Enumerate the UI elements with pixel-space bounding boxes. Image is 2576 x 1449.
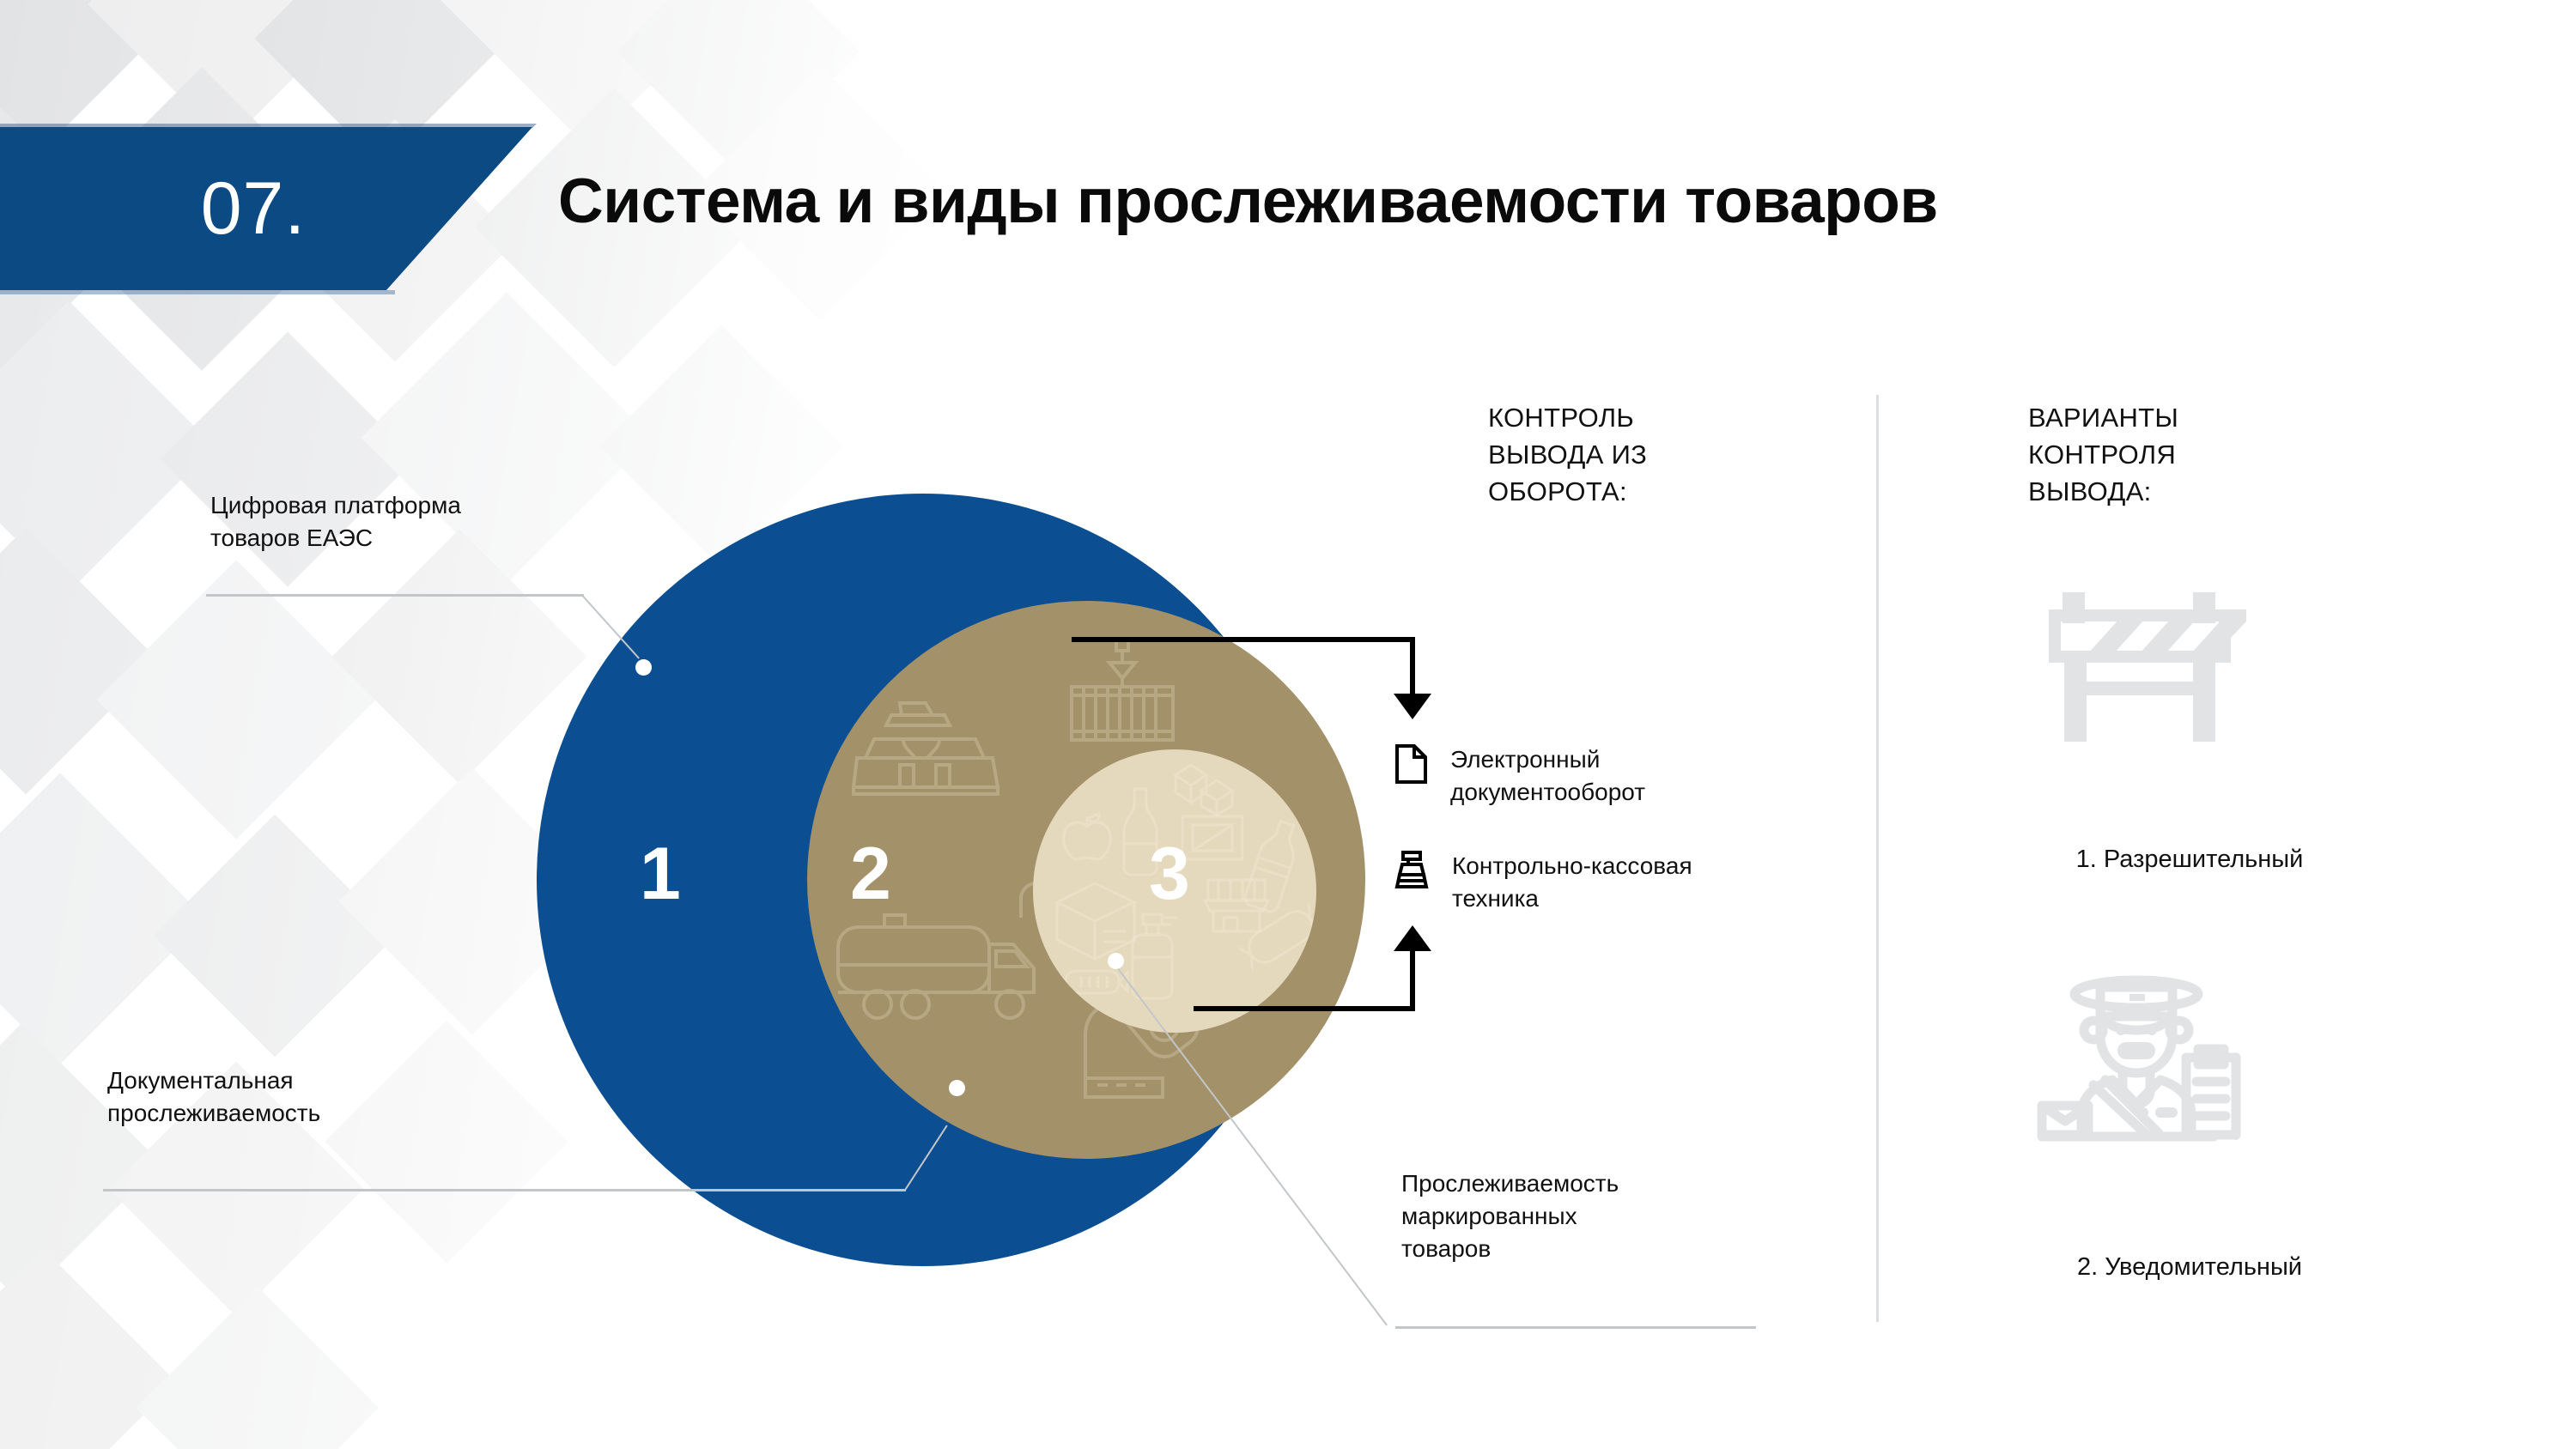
callout-platform-line1: Цифровая платформа	[210, 489, 605, 522]
leader-line-bottom-left	[103, 1189, 906, 1191]
bracket-bottom-vertical	[1410, 951, 1415, 1011]
variant-option-1-label: 1. Разрешительный	[1966, 846, 2413, 874]
column-divider	[1876, 395, 1879, 1322]
document-icon	[1394, 743, 1428, 789]
control-item-edo-label: Электронный документооборот	[1450, 743, 1811, 809]
callout-marked-line1: Прослеживаемость	[1401, 1167, 1762, 1200]
callout-platform-line2: товаров ЕАЭС	[210, 522, 605, 555]
control-item-edo-line2: документооборот	[1450, 779, 1645, 805]
leader-line-top-left	[206, 594, 584, 597]
callout-marked-label: Прослеживаемость маркированных товаров	[1401, 1167, 1762, 1264]
slide-number-text: 07.	[201, 167, 307, 252]
control-item-edo[interactable]: Электронный документооборот	[1394, 743, 1811, 809]
circle-number-3: 3	[1149, 837, 1190, 911]
anchor-dot-marked	[1108, 953, 1124, 969]
page-title: Система и виды прослеживаемости товаров	[558, 167, 2490, 236]
control-item-edo-line1: Электронный	[1450, 746, 1600, 773]
cargo-container-icon	[1065, 635, 1181, 747]
bracket-top-vertical	[1410, 637, 1415, 697]
control-item-kkt-label: Контрольно-кассовая техника	[1452, 850, 1813, 915]
slide-root: 07. Система и виды прослеживаемости това…	[0, 0, 2576, 1449]
control-item-kkt-line2: техника	[1452, 885, 1539, 912]
anchor-dot-documentary	[949, 1080, 965, 1096]
spray-bottle-icon	[1129, 909, 1191, 1003]
control-heading-line3: ОБОРОТА:	[1488, 474, 1814, 511]
variants-heading-line3: ВЫВОДА:	[2028, 474, 2354, 511]
boxes-icon	[1169, 756, 1237, 816]
badge-bottom-edge	[0, 290, 395, 294]
bracket-top-horizontal	[1072, 637, 1415, 642]
callout-documentary-line2: прослеживаемость	[107, 1097, 502, 1130]
callout-marked-line2: маркированных	[1401, 1200, 1762, 1233]
apple-icon	[1060, 809, 1114, 863]
anchor-dot-platform	[635, 659, 652, 676]
control-heading-line2: ВЫВОДА ИЗ	[1488, 437, 1814, 474]
variants-column-heading: ВАРИАНТЫ КОНТРОЛЯ ВЫВОДА:	[2028, 400, 2354, 510]
slide-number-badge: 07.	[0, 127, 532, 290]
bracket-bottom-arrowhead-icon	[1394, 925, 1431, 951]
circle-number-2: 2	[850, 837, 891, 911]
callout-documentary-line1: Документальная	[107, 1064, 502, 1097]
candy-icon	[1241, 911, 1316, 967]
callout-documentary-label: Документальная прослеживаемость	[107, 1064, 502, 1130]
control-item-kkt[interactable]: Контрольно-кассовая техника	[1394, 850, 1813, 915]
bulk-cargo-icon	[850, 691, 1000, 803]
bracket-bottom-horizontal	[1194, 1006, 1415, 1011]
control-heading-line1: КОНТРОЛЬ	[1488, 400, 1814, 437]
bracket-top-arrowhead-icon	[1394, 694, 1431, 719]
circle-number-1: 1	[640, 837, 681, 911]
road-barrier-icon	[2042, 577, 2274, 779]
control-column-heading: КОНТРОЛЬ ВЫВОДА ИЗ ОБОРОТА:	[1488, 400, 1814, 510]
control-item-kkt-line1: Контрольно-кассовая	[1452, 852, 1692, 879]
variant-option-2-label: 2. Уведомительный	[1966, 1253, 2413, 1282]
variants-heading-line1: ВАРИАНТЫ	[2028, 400, 2354, 437]
leader-line-bottom-right	[1395, 1326, 1756, 1329]
callout-platform-label: Цифровая платформа товаров ЕАЭС	[210, 489, 605, 555]
tanker-truck-icon	[833, 910, 1056, 1030]
variants-heading-line2: КОНТРОЛЯ	[2028, 437, 2354, 474]
callout-marked-line3: товаров	[1401, 1233, 1762, 1265]
cash-register-icon	[1394, 850, 1430, 895]
customs-officer-icon	[2033, 968, 2274, 1187]
